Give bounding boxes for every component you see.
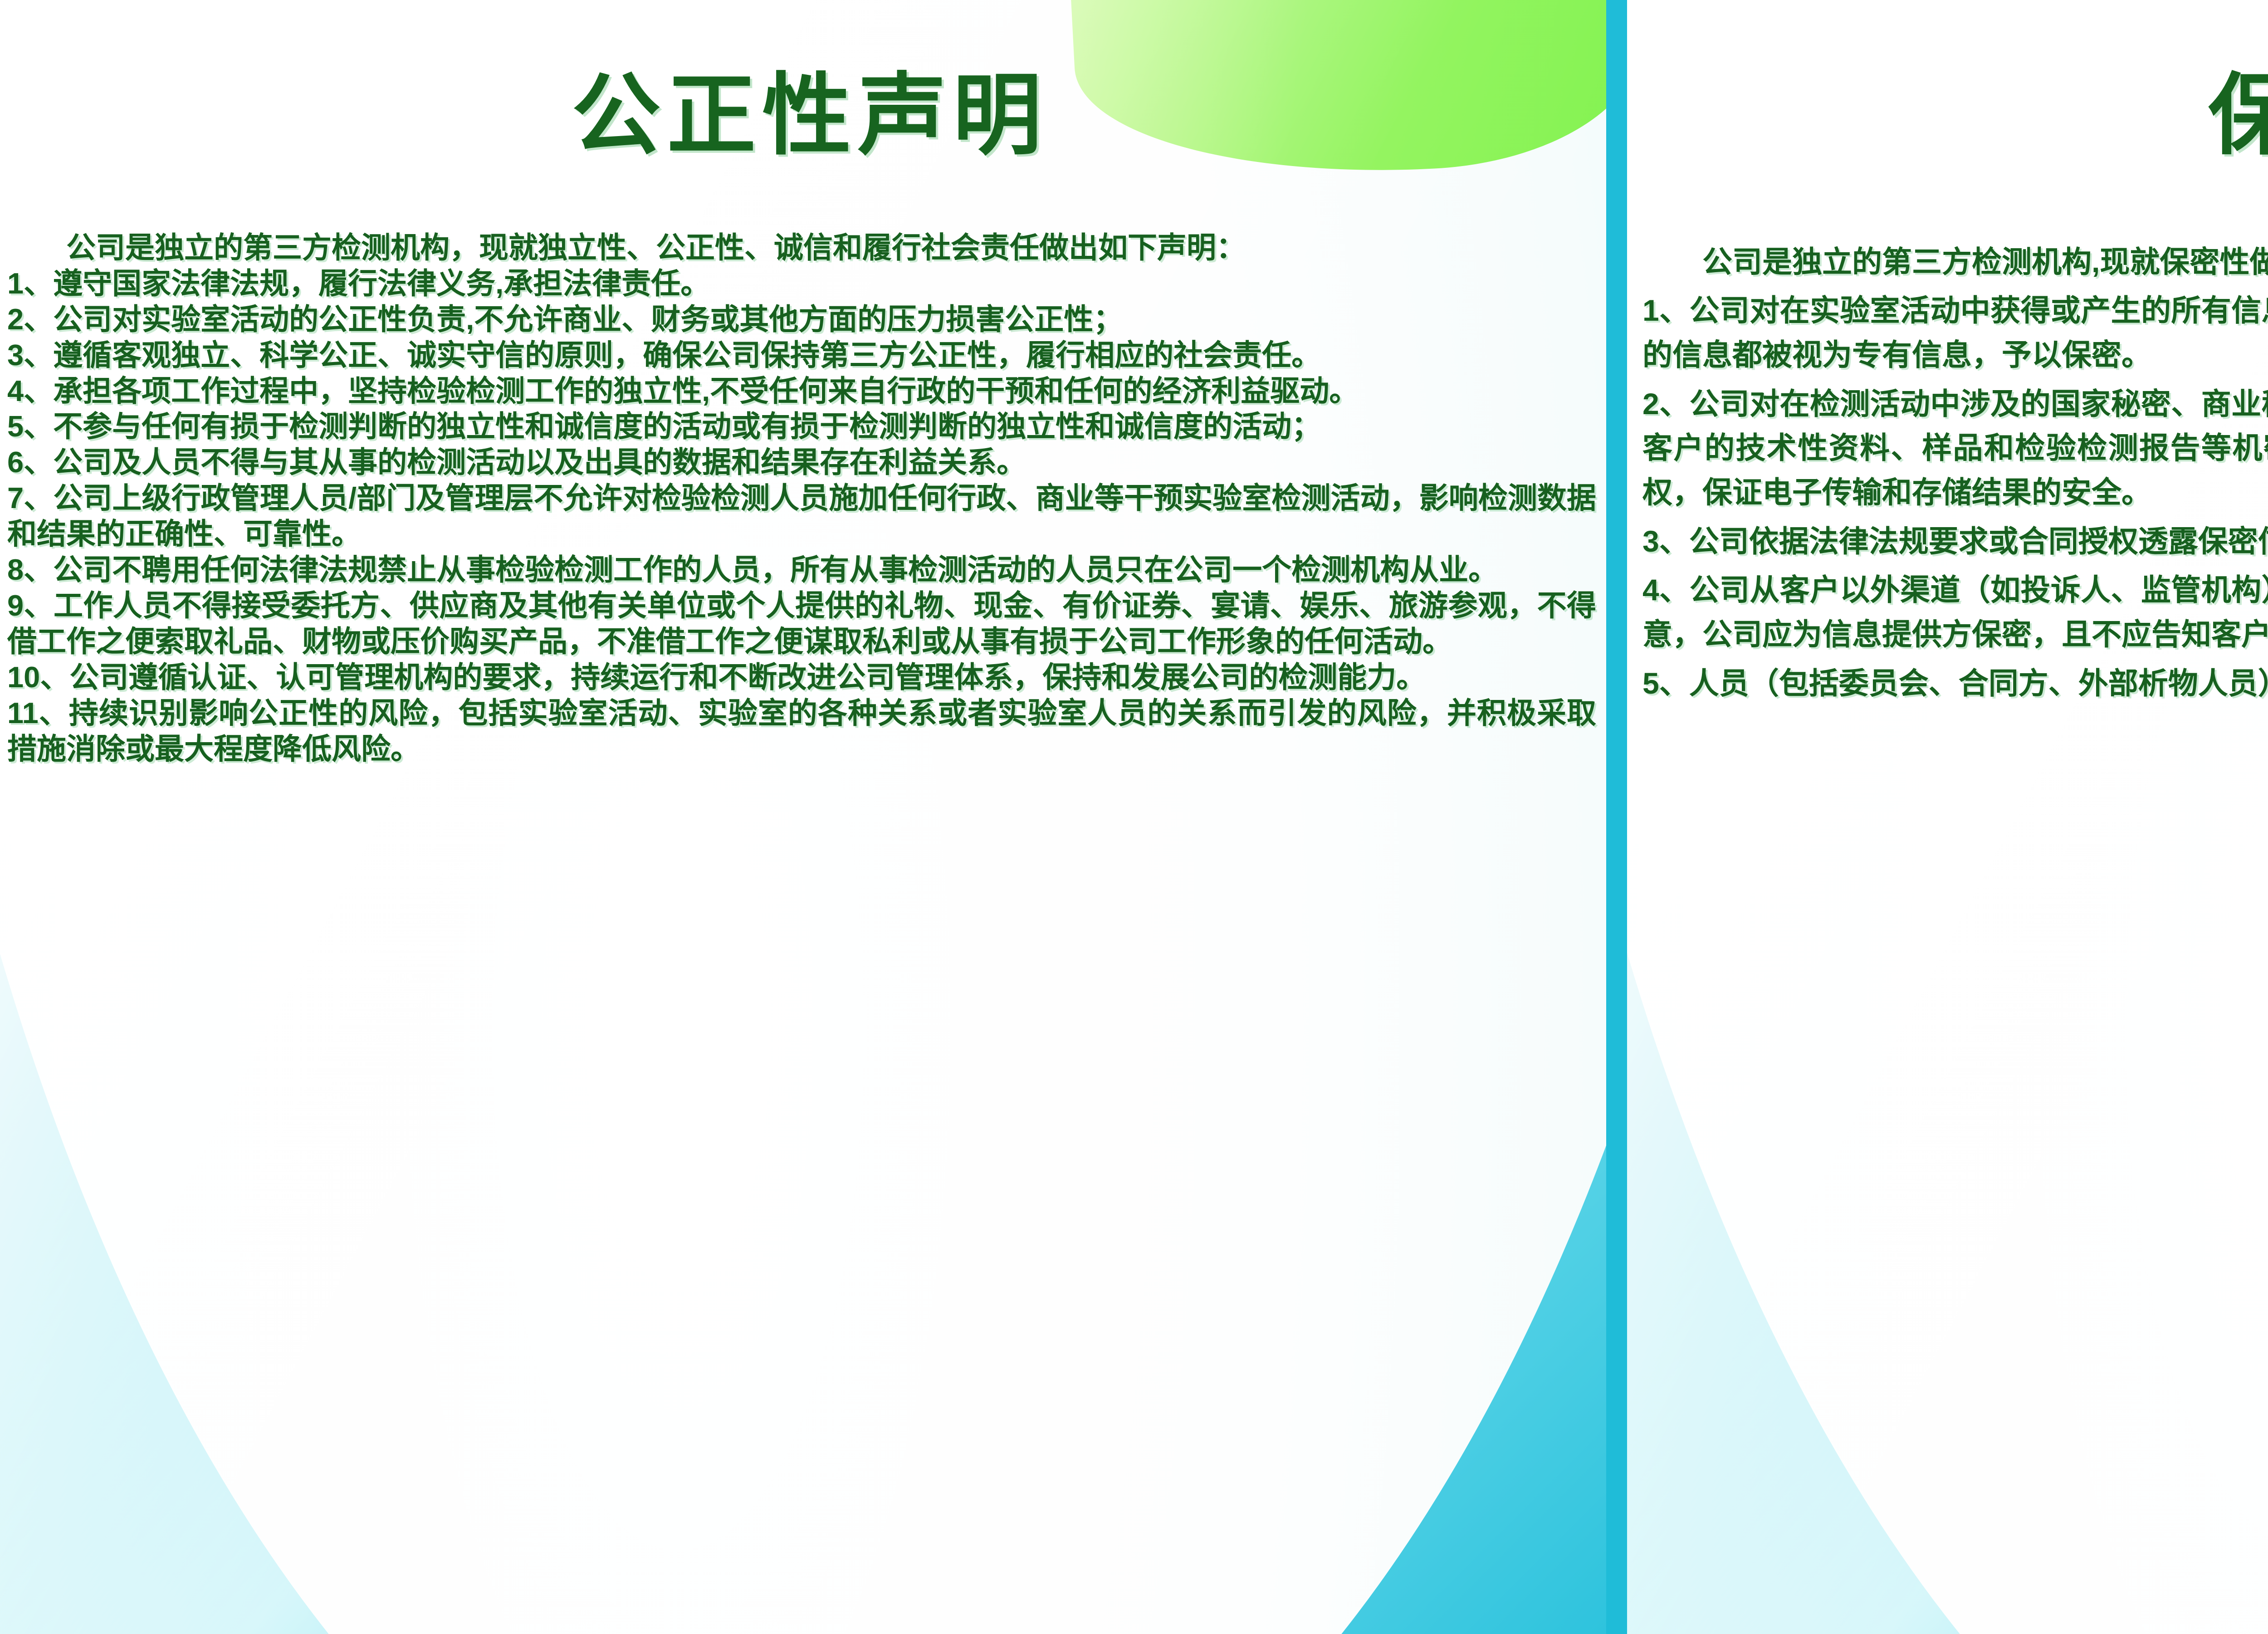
left-item-5: 5、不参与任何有损于检测判断的独立性和诚信度的活动或有损于检测判断的独立性和诚信… xyxy=(7,409,1596,445)
left-item-1: 1、遵守国家法律法规，履行法律义务,承担法律责任。 xyxy=(7,266,1596,302)
panel-divider xyxy=(1606,0,1627,1634)
poster-board: 公正性声明 公司是独立的第三方检测机构，现就独立性、公正性、诚信和履行社会责任做… xyxy=(0,0,2268,1634)
right-item-1: 1、公司对在实验室活动中获得或产生的所有信息承担管理责任。除客户公开的信息，或实… xyxy=(1642,289,2268,377)
left-item-8: 8、公司不聘用任何法律法规禁止从事检验检测工作的人员，所有从事检测活动的人员只在… xyxy=(7,552,1596,588)
left-item-9: 9、工作人员不得接受委托方、供应商及其他有关单位或个人提供的礼物、现金、有价证券… xyxy=(7,588,1596,660)
left-panel-content: 公正性声明 公司是独立的第三方检测机构，现就独立性、公正性、诚信和履行社会责任做… xyxy=(0,59,1606,767)
left-item-4: 4、承担各项工作过程中，坚持检验检测工作的独立性,不受任何来自行政的干预和任何的… xyxy=(7,373,1596,409)
right-panel-content: 保密性声明 公司是独立的第三方检测机构,现就保密性做出如下声明： 1、公司对在实… xyxy=(1627,59,2268,705)
right-panel-title: 保密性声明 xyxy=(1627,59,2268,160)
left-item-10: 10、公司遵循认证、认可管理机构的要求，持续运行和不断改进公司管理体系，保持和发… xyxy=(7,660,1596,695)
left-panel-title: 公正性声明 xyxy=(0,59,1606,160)
right-item-3: 3、公司依据法律法规要求或合同授权透露保密信息时，应将所提供的信息通知到相关的客… xyxy=(1642,519,2268,564)
right-item-5: 5、人员（包括委员会、合同方、外部析物人员）在实施实验室活动中获得或产生的所有信… xyxy=(1642,661,2268,706)
left-item-7: 7、公司上级行政管理人员/部门及管理层不允许对检验检测人员施加任何行政、商业等干… xyxy=(7,480,1596,552)
panel-impartiality-statement: 公正性声明 公司是独立的第三方检测机构，现就独立性、公正性、诚信和履行社会责任做… xyxy=(0,0,1606,1634)
left-item-6: 6、公司及人员不得与其从事的检测活动以及出具的数据和结果存在利益关系。 xyxy=(7,445,1596,480)
left-intro-paragraph: 公司是独立的第三方检测机构，现就独立性、公正性、诚信和履行社会责任做出如下声明： xyxy=(7,230,1596,266)
right-item-4: 4、公司从客户以外渠道（如投诉人、监管机构）获取有关客户的信息时，应在客户和公司… xyxy=(1642,568,2268,656)
left-item-2: 2、公司对实验室活动的公正性负责,不允许商业、财务或其他方面的压力损害公正性； xyxy=(7,302,1596,338)
left-panel-body: 公司是独立的第三方检测机构，现就独立性、公正性、诚信和履行社会责任做出如下声明：… xyxy=(0,220,1606,768)
right-intro-paragraph: 公司是独立的第三方检测机构,现就保密性做出如下声明： xyxy=(1642,240,2268,284)
left-item-11: 11、持续识别影响公正性的风险，包括实验室活动、实验室的各种关系或者实验室人员的… xyxy=(7,695,1596,767)
right-panel-body: 公司是独立的第三方检测机构,现就保密性做出如下声明： 1、公司对在实验室活动中获… xyxy=(1627,220,2268,706)
right-item-2: 2、公司对在检测活动中涉及的国家秘密、商业秘密和技术秘密负有保密义务，制定实施有… xyxy=(1642,382,2268,515)
left-item-3: 3、遵循客观独立、科学公正、诚实守信的原则，确保公司保持第三方公正性，履行相应的… xyxy=(7,338,1596,373)
panel-confidentiality-statement: 保密性声明 公司是独立的第三方检测机构,现就保密性做出如下声明： 1、公司对在实… xyxy=(1627,0,2268,1634)
